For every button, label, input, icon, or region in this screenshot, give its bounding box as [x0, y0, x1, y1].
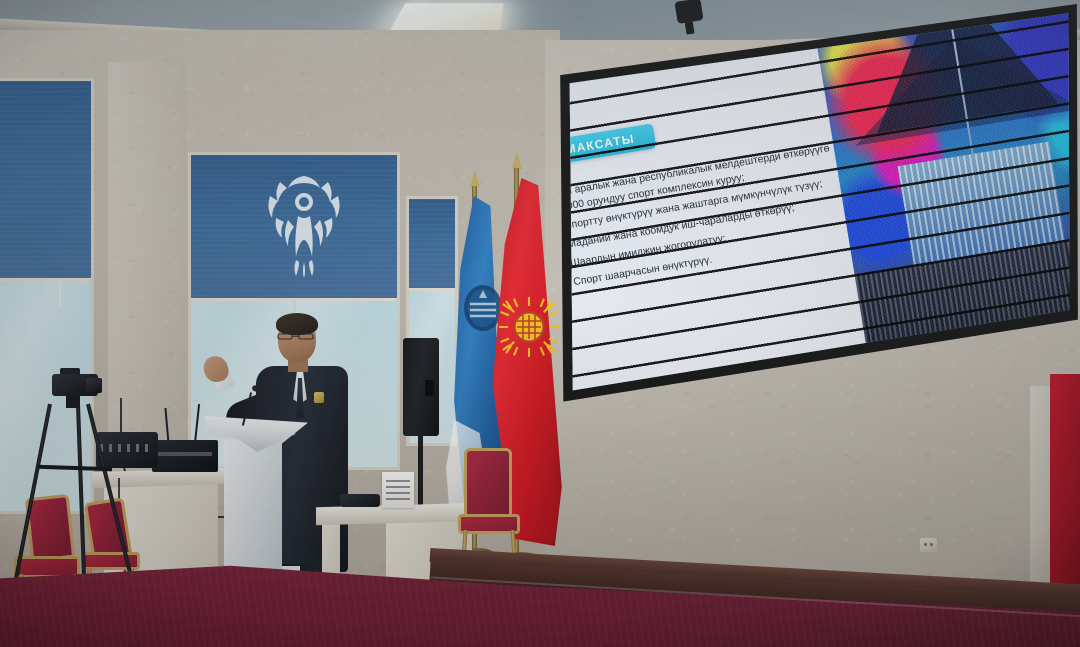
budget-label: Болжолдуу наркы:	[598, 393, 696, 404]
slide-project-render	[807, 2, 1080, 351]
tripod-head	[66, 394, 80, 408]
blind-slat-lines-right	[409, 199, 455, 288]
flag-finial-red	[512, 152, 522, 169]
led-video-wall[interactable]: 5000 орундуу спорт комплекс МАКСАТЫ Эл а…	[556, 2, 1080, 404]
mixer-knobs[interactable]	[100, 444, 152, 452]
presentation-slide: 5000 орундуу спорт комплекс МАКСАТЫ Эл а…	[556, 2, 1080, 404]
presenter-hair	[276, 313, 318, 335]
roller-blind-middle[interactable]	[191, 155, 397, 301]
wireless-receiver-rack	[152, 440, 218, 472]
render-dither	[807, 2, 1080, 351]
chair-backrest	[464, 448, 512, 520]
ceiling-light	[390, 3, 504, 30]
screen-face: 5000 орундуу спорт комплекс МАКСАТЫ Эл а…	[556, 2, 1080, 404]
power-outlet-icon	[920, 538, 937, 552]
conference-hall-photo: 5000 орундуу спорт комплекс МАКСАТЫ Эл а…	[0, 0, 1080, 647]
rack-front-panel	[158, 452, 212, 456]
table-device	[340, 494, 380, 507]
slide-bullet-list: Эл аралык жана республикалык мелдештерди…	[556, 141, 847, 296]
camera-lens-icon	[86, 378, 102, 393]
webcam-icon	[674, 0, 703, 24]
blind-pull-cord[interactable]	[59, 281, 61, 307]
name-card-text-lines	[386, 480, 410, 500]
slide-section-heading: МАКСАТЫ	[556, 123, 656, 165]
budget-value: 10000,0 МЛН. СОМ.	[600, 403, 699, 404]
blind-slat-lines-middle	[191, 155, 397, 298]
roller-blind-left[interactable]	[0, 81, 91, 281]
roller-blind-right[interactable]	[409, 199, 455, 291]
presenter-lapel-badge	[314, 392, 324, 403]
glasses-icon	[277, 333, 315, 340]
speaker-port	[425, 380, 434, 396]
flag-finial-blue	[470, 170, 480, 187]
blind-slat-lines	[0, 81, 91, 278]
table-name-card	[382, 472, 414, 508]
kyrgyzstan-sun-tunduk-icon	[498, 296, 560, 358]
pa-loudspeaker	[403, 338, 439, 436]
podium-body	[224, 440, 282, 580]
